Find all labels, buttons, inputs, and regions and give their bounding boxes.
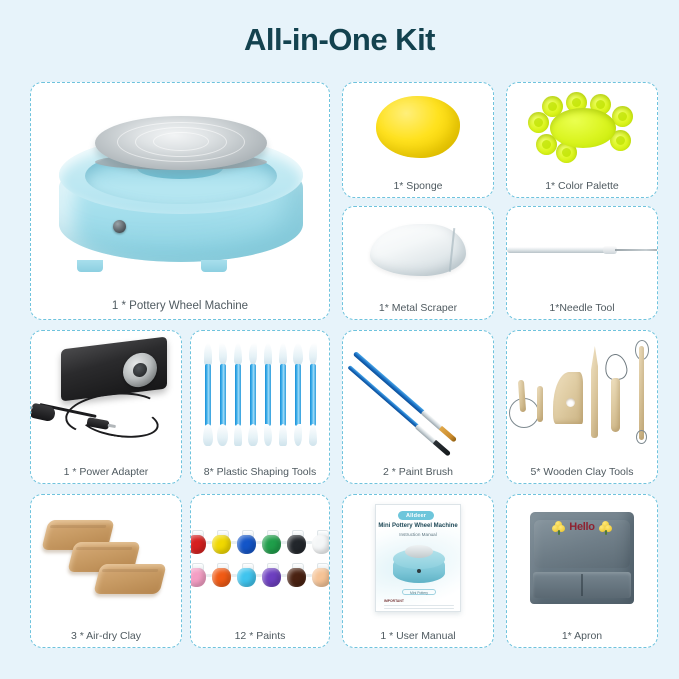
- brush-bristles: [433, 440, 451, 457]
- item-card-color-palette[interactable]: 1* Color Palette: [506, 82, 658, 198]
- flower-icon: [552, 521, 565, 534]
- item-card-needle-tool[interactable]: 1*Needle Tool: [506, 206, 658, 320]
- double-loop-end: [636, 430, 647, 444]
- item-caption: 1 * Power Adapter: [31, 466, 181, 478]
- paint-row-bottom: [190, 563, 330, 587]
- page-title: All-in-One Kit: [0, 22, 679, 58]
- needle-tool-image: [507, 207, 657, 293]
- plastic-tool: [218, 342, 227, 446]
- plug-prong: [30, 409, 32, 413]
- pot-body-green: [262, 535, 281, 554]
- sponge-image: [343, 83, 493, 171]
- item-card-apron[interactable]: Hello 1* Apron: [506, 494, 658, 648]
- needle-handle: [507, 247, 611, 253]
- tool-shaft: [310, 364, 316, 426]
- flower-icon: [599, 521, 612, 534]
- paint-pot: [212, 530, 233, 554]
- pot-body-purple: [262, 568, 281, 587]
- clay-block: [93, 564, 166, 594]
- manual-cover-device-illustration: [393, 545, 445, 585]
- paint-pot: [312, 530, 330, 554]
- apron-pocket: [533, 572, 631, 598]
- turntable-ring-inner: [153, 132, 209, 151]
- manual-notice-block: IMPORTANT: [384, 599, 454, 612]
- item-card-wooden-clay-tools[interactable]: 5* Wooden Clay Tools: [506, 330, 658, 484]
- metal-scraper-image: [343, 207, 493, 293]
- wheel-foot-right: [201, 260, 227, 272]
- needle-point: [615, 249, 658, 251]
- item-card-plastic-shaping-tools[interactable]: 8* Plastic Shaping Tools: [190, 330, 330, 484]
- wire-cutter-handle: [611, 378, 620, 432]
- plastic-tool: [278, 342, 287, 446]
- item-caption: 2 * Paint Brush: [343, 466, 493, 478]
- pot-body-pink: [190, 568, 206, 587]
- plastic-tool: [308, 342, 317, 446]
- tool-shaft: [220, 364, 226, 426]
- flower-stem: [605, 530, 607, 535]
- brand-badge: Alldeer: [398, 511, 434, 520]
- tool-tip: [217, 424, 228, 446]
- tool-tip: [309, 424, 317, 446]
- tool-tip: [293, 343, 303, 365]
- manual-title: Mini Pottery Wheel Machine: [376, 523, 460, 529]
- paint-row-top: [190, 530, 330, 554]
- item-card-paint-brush[interactable]: 2 * Paint Brush: [342, 330, 494, 484]
- palette-mixing-area: [550, 108, 616, 148]
- paint-pot: [287, 563, 308, 587]
- pot-body-brown: [287, 568, 306, 587]
- item-caption: 1 * User Manual: [343, 630, 493, 642]
- pot-body-black: [287, 535, 306, 554]
- text-line: [384, 605, 454, 606]
- tool-shaft: [280, 364, 286, 426]
- apron-image: Hello: [507, 495, 657, 621]
- plastic-tools-image: [191, 331, 329, 457]
- plastic-tool: [248, 342, 257, 446]
- item-caption: 1*Needle Tool: [507, 302, 657, 314]
- item-caption: 1* Apron: [507, 630, 657, 642]
- tool-tip: [294, 424, 302, 446]
- paint-pot: [212, 563, 233, 587]
- item-caption: 1* Color Palette: [507, 180, 657, 192]
- tool-tip: [248, 424, 258, 446]
- pot-body-yellow: [212, 535, 231, 554]
- item-card-air-dry-clay[interactable]: 3 * Air-dry Clay: [30, 494, 182, 648]
- paint-pot: [237, 530, 258, 554]
- tool-tip: [309, 343, 317, 365]
- item-card-paints[interactable]: 12 * Paints: [190, 494, 330, 648]
- tool-tip: [249, 343, 257, 365]
- manual-notice-heading: IMPORTANT: [384, 599, 454, 603]
- manual-model-chip: Mini Pottery: [402, 589, 436, 595]
- cover-device-knob: [417, 569, 421, 573]
- air-dry-clay-image: [31, 495, 181, 621]
- item-card-metal-scraper[interactable]: 1* Metal Scraper: [342, 206, 494, 320]
- text-line: [384, 608, 454, 609]
- wooden-knife-tool: [591, 346, 598, 438]
- paint-pot: [312, 563, 330, 587]
- small-stick-tool: [537, 386, 543, 422]
- pot-body-orange: [212, 568, 231, 587]
- paint-pot: [237, 563, 258, 587]
- tool-tip: [219, 343, 227, 365]
- tool-tip: [234, 343, 242, 365]
- paint-brush-image: [343, 331, 493, 457]
- power-adapter-image: [31, 331, 181, 457]
- tool-tip: [264, 424, 272, 446]
- paint-pot: [190, 530, 208, 554]
- plug-prong: [30, 404, 33, 408]
- paints-image: [191, 495, 329, 621]
- manual-subtitle: Instruction Manual: [376, 532, 460, 537]
- tool-shaft: [265, 364, 271, 426]
- tool-shaft: [235, 364, 241, 426]
- item-caption: 8* Plastic Shaping Tools: [191, 466, 329, 478]
- tool-tip: [264, 343, 272, 365]
- scraper-rib: [370, 224, 466, 276]
- item-caption: 5* Wooden Clay Tools: [507, 466, 657, 478]
- paint-pot: [262, 530, 283, 554]
- item-caption: 1* Metal Scraper: [343, 302, 493, 314]
- tool-tip: [203, 424, 213, 446]
- pot-body-cyan: [237, 568, 256, 587]
- tool-tip: [204, 343, 212, 365]
- item-caption: 3 * Air-dry Clay: [31, 630, 181, 642]
- item-card-power-adapter[interactable]: 1 * Power Adapter: [30, 330, 182, 484]
- color-palette-image: [507, 83, 657, 171]
- tool-shaft: [295, 364, 301, 426]
- cover-device-plate: [405, 545, 433, 558]
- plastic-tool: [263, 342, 272, 446]
- tool-tip: [279, 343, 287, 365]
- apron-hello-text: Hello: [530, 521, 634, 533]
- power-socket-icon: [113, 220, 126, 233]
- paint-pot: [190, 563, 208, 587]
- pot-body-peach: [312, 568, 330, 587]
- sponge-shape: [376, 96, 460, 158]
- user-manual-image: Alldeer Mini Pottery Wheel Machine Instr…: [343, 495, 493, 621]
- brush-bristles: [439, 426, 457, 443]
- plastic-tool: [203, 342, 212, 446]
- pot-body-white: [312, 535, 330, 554]
- paint-pot: [287, 530, 308, 554]
- item-card-pottery-wheel-machine[interactable]: 1 * Pottery Wheel Machine: [30, 82, 330, 320]
- tool-shaft: [205, 364, 211, 426]
- text-line: [384, 611, 440, 612]
- wooden-rib-tool: [553, 372, 583, 424]
- item-caption: 12 * Paints: [191, 630, 329, 642]
- item-card-sponge[interactable]: 1* Sponge: [342, 82, 494, 198]
- product-infographic: All-in-One Kit 1 * Pottery Wheel Machine: [0, 0, 679, 679]
- pottery-wheel-image: [31, 83, 329, 293]
- paint-pot: [262, 563, 283, 587]
- wooden-tools-image: [507, 331, 657, 457]
- plastic-tool: [293, 342, 302, 446]
- tool-tip: [279, 424, 287, 446]
- wheel-foot-left: [77, 260, 103, 272]
- pot-body-red: [190, 535, 206, 554]
- item-card-user-manual[interactable]: Alldeer Mini Pottery Wheel Machine Instr…: [342, 494, 494, 648]
- pot-body-blue: [237, 535, 256, 554]
- plastic-tool: [233, 342, 242, 446]
- item-caption: 1 * Pottery Wheel Machine: [31, 300, 329, 312]
- tool-shaft: [250, 364, 256, 426]
- item-caption: 1* Sponge: [343, 180, 493, 192]
- double-ended-tool: [639, 346, 644, 440]
- tool-tip: [234, 424, 242, 446]
- loop-tool-handle: [518, 380, 526, 412]
- flower-stem: [558, 530, 560, 535]
- brush-handle: [353, 351, 425, 415]
